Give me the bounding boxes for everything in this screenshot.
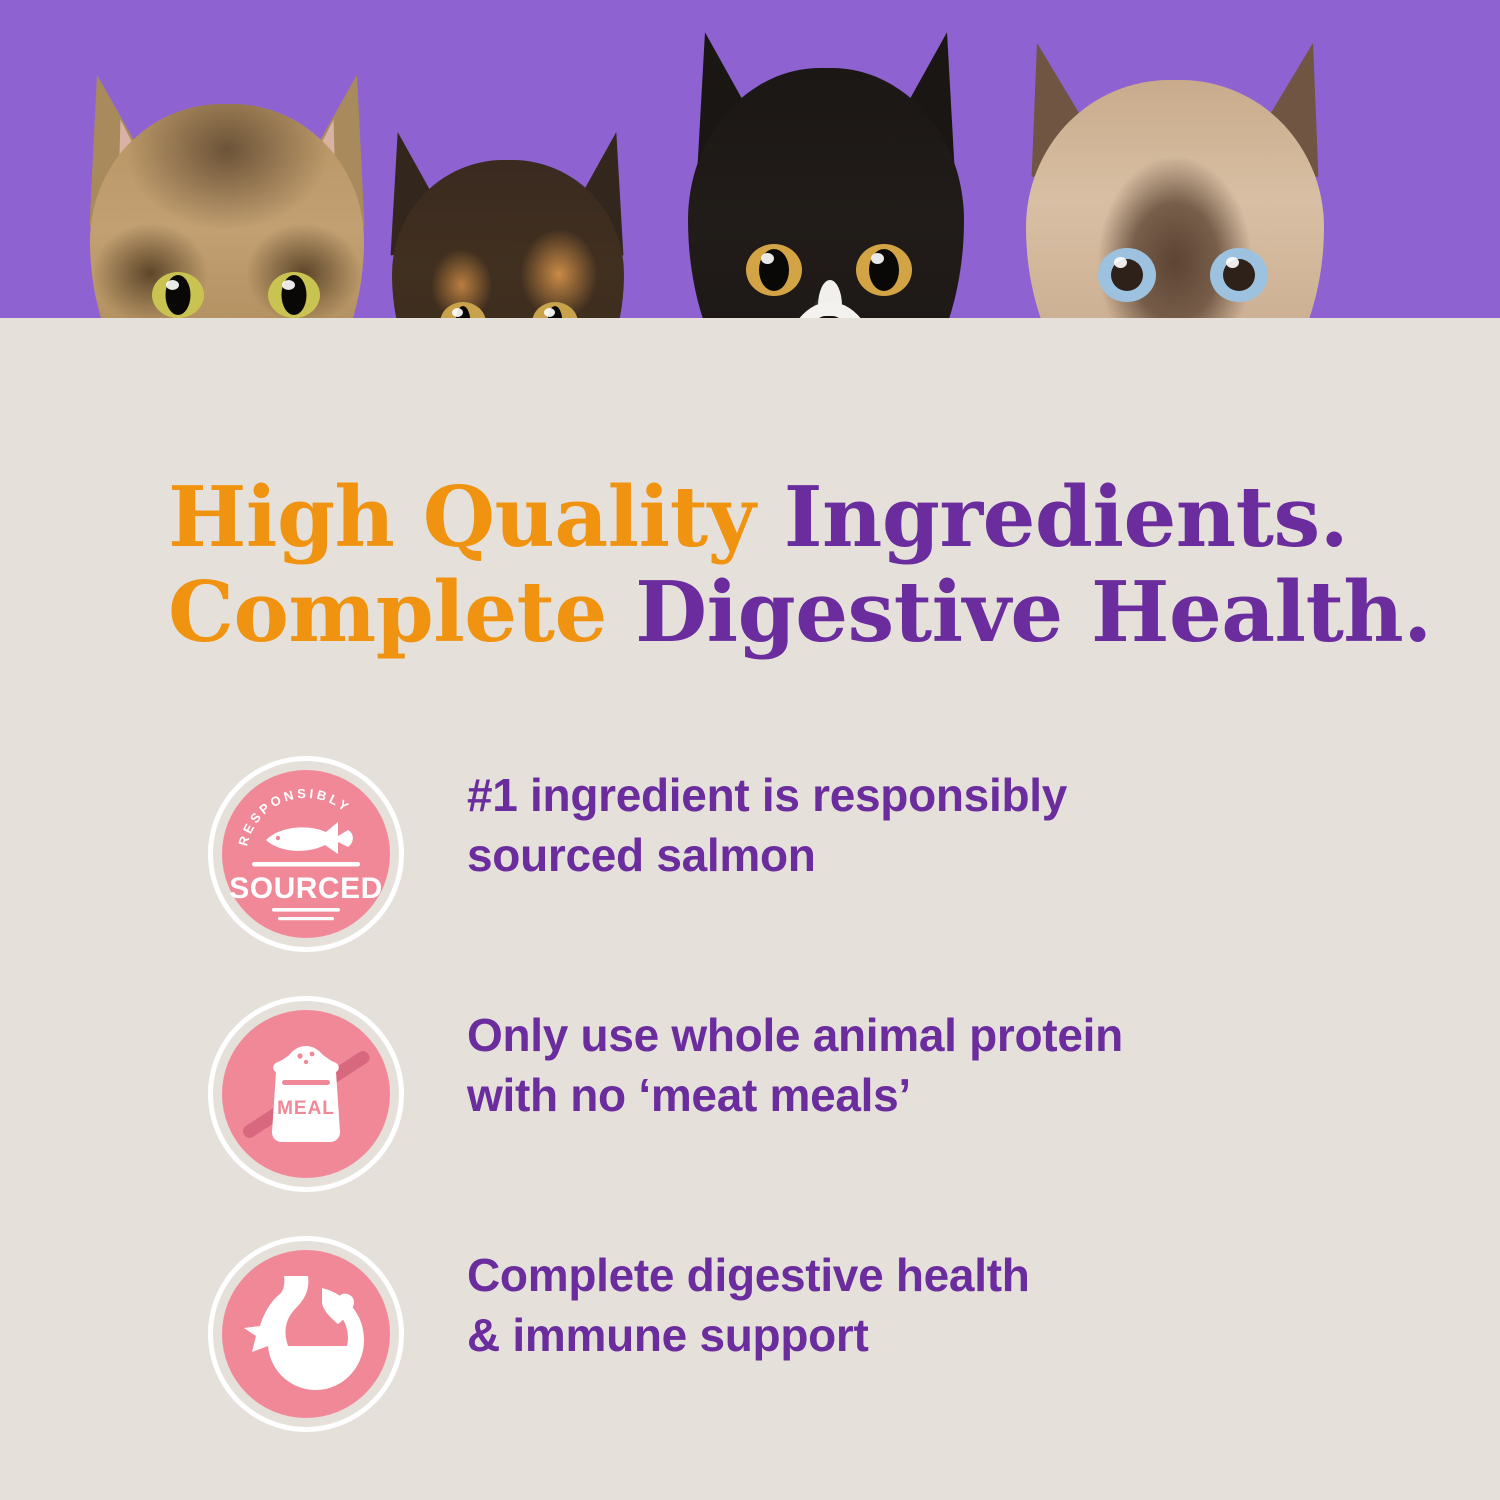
cat-eye-right xyxy=(856,244,912,296)
cat-eye-right xyxy=(1210,248,1268,302)
eye-glint xyxy=(1226,257,1239,268)
headline-purple-1: Ingredients. xyxy=(784,468,1348,566)
feature-list: RESPONSIBLY SOURCED #1 ingredient is res… xyxy=(222,762,1402,1482)
feature-line-1: #1 ingredient is responsibly xyxy=(467,766,1367,826)
headline-purple-2: Digestive Health. xyxy=(635,563,1432,661)
eye-glint xyxy=(282,280,295,290)
product-feature-graphic: High Quality Ingredients. Complete Diges… xyxy=(0,0,1500,1500)
feature-line-1: Only use whole animal protein xyxy=(467,1006,1367,1066)
feature-line-2: sourced salmon xyxy=(467,826,1367,886)
eye-glint xyxy=(761,253,774,264)
eye-glint xyxy=(166,280,179,290)
cat-eye-left xyxy=(746,244,802,296)
feature-row: Complete digestive health & immune suppo… xyxy=(222,1242,1402,1482)
feature-text: Only use whole animal protein with no ‘m… xyxy=(467,1006,1367,1126)
eye-glint xyxy=(544,308,555,317)
svg-text:SOURCED: SOURCED xyxy=(229,872,383,905)
no-meat-meal-bag-badge-icon: MEAL xyxy=(222,1010,390,1178)
stomach-heart-digestive-badge-icon xyxy=(222,1250,390,1418)
cat-eye-left xyxy=(1098,248,1156,302)
page-title: High Quality Ingredients. Complete Diges… xyxy=(168,470,1398,661)
eye-glint xyxy=(452,308,463,317)
eye-glint xyxy=(871,253,884,264)
eye-glint xyxy=(1114,257,1127,268)
svg-text:MEAL: MEAL xyxy=(277,1098,335,1119)
feature-line-1: Complete digestive health xyxy=(467,1246,1367,1306)
feature-line-2: with no ‘meat meals’ xyxy=(467,1066,1367,1126)
cat-eye-left xyxy=(152,272,204,318)
feature-text: #1 ingredient is responsibly sourced sal… xyxy=(467,766,1367,886)
responsibly-sourced-fish-badge-icon: RESPONSIBLY SOURCED xyxy=(222,770,390,938)
feature-line-2: & immune support xyxy=(467,1306,1367,1366)
headline-line-1: High Quality Ingredients. xyxy=(168,470,1398,565)
feature-row: MEAL Only use whole animal protein with … xyxy=(222,1002,1402,1242)
headline-line-2: Complete Digestive Health. xyxy=(168,565,1398,660)
headline-orange-2: Complete xyxy=(168,563,635,661)
feature-text: Complete digestive health & immune suppo… xyxy=(467,1246,1367,1366)
cat-eye-right xyxy=(268,272,320,318)
feature-row: RESPONSIBLY SOURCED #1 ingredient is res… xyxy=(222,762,1402,1002)
headline-orange-1: High Quality xyxy=(168,468,784,566)
